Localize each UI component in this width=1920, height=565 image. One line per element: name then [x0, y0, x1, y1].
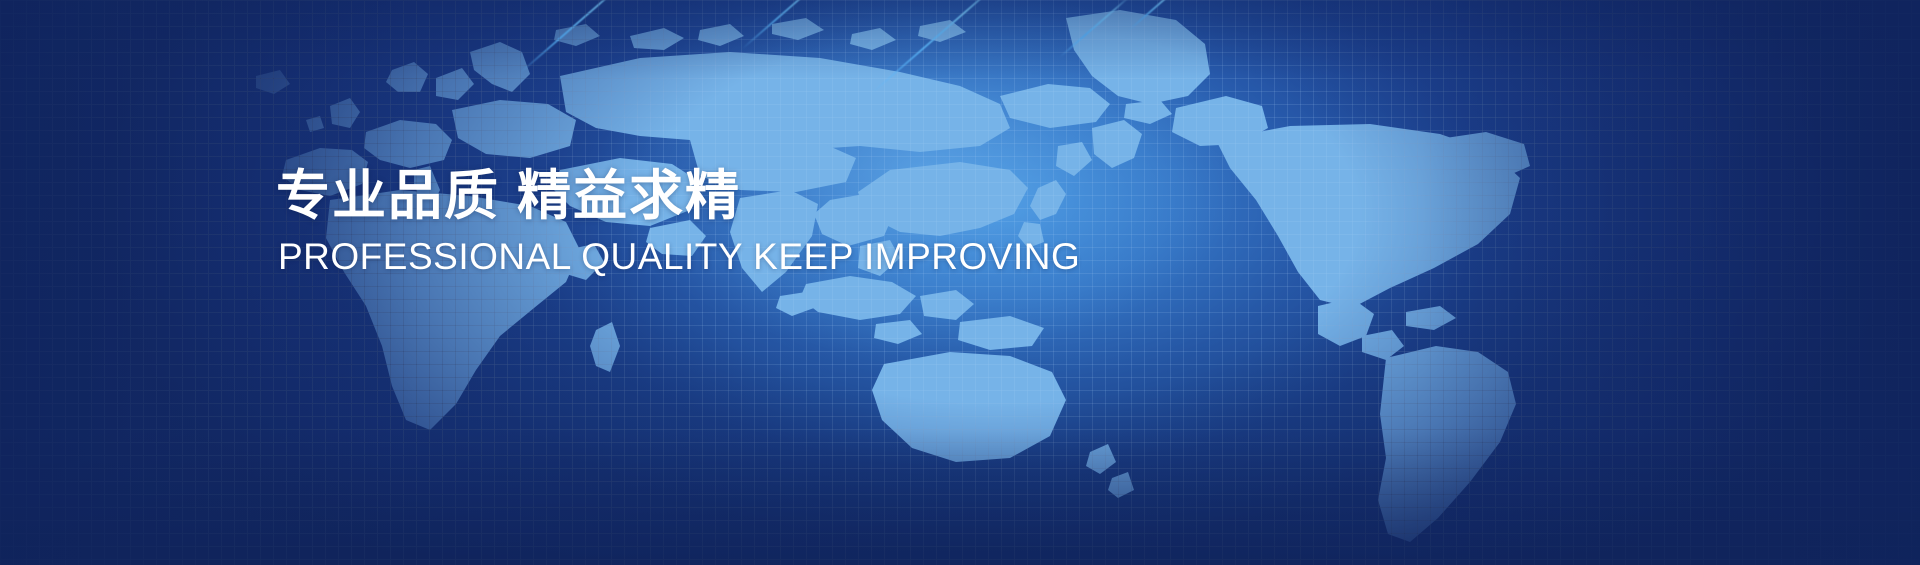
banner-headline: 专业品质 精益求精 — [276, 168, 1080, 224]
banner-subheadline: PROFESSIONAL QUALITY KEEP IMPROVING — [278, 238, 1080, 277]
banner-copy: 专业品质 精益求精 PROFESSIONAL QUALITY KEEP IMPR… — [276, 168, 1080, 277]
edge-vignette — [0, 0, 1920, 565]
hero-banner: 专业品质 精益求精 PROFESSIONAL QUALITY KEEP IMPR… — [0, 0, 1920, 565]
